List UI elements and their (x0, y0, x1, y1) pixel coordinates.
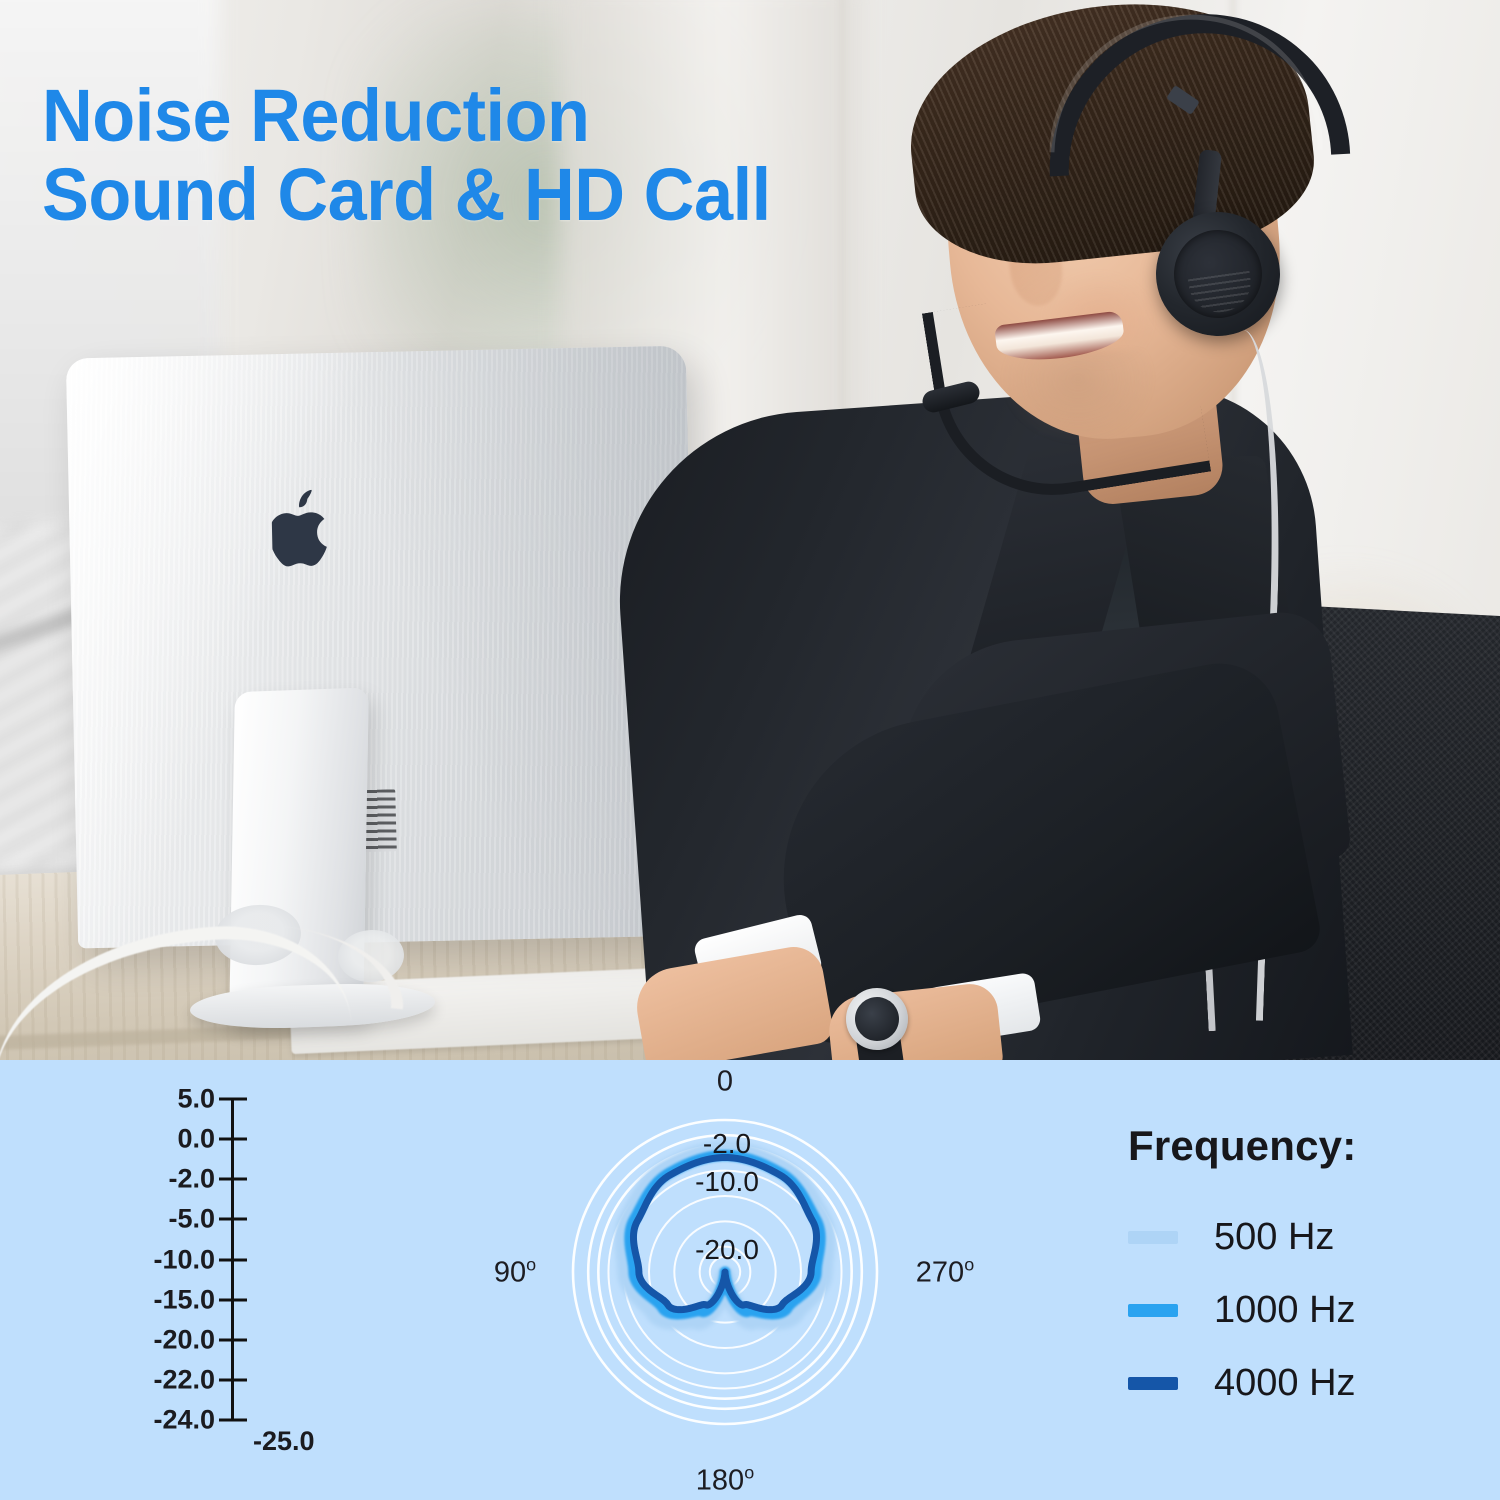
legend-color-swatch (1128, 1377, 1178, 1390)
legend-item[interactable]: 1000 Hz (1128, 1289, 1458, 1332)
polar-ring-label: -20.0 (695, 1234, 759, 1266)
db-scale-label: -2.0 (168, 1164, 215, 1195)
imac-highlight (66, 346, 698, 949)
db-scale-label: -22.0 (153, 1364, 215, 1395)
db-axis-tick (219, 1098, 247, 1101)
legend-rows: 500 Hz1000 Hz4000 Hz (1128, 1216, 1458, 1405)
apple-logo-icon (271, 489, 335, 568)
db-scale-min-label: -25.0 (253, 1426, 315, 1457)
legend-item-label: 4000 Hz (1214, 1362, 1356, 1405)
spec-chart-panel: 5.00.0-2.0-5.0-10.0-15.0-20.0-22.0-24.0 … (0, 1060, 1500, 1500)
polar-angle-label-0: 0 (717, 1066, 733, 1099)
db-axis-tick (219, 1138, 247, 1141)
polar-angle-label-270: 270o (916, 1255, 974, 1290)
db-axis-tick (219, 1419, 247, 1422)
db-scale-label: -5.0 (168, 1204, 215, 1235)
db-scale-label: -15.0 (153, 1284, 215, 1315)
db-axis-tick (219, 1378, 247, 1381)
legend-item-label: 500 Hz (1214, 1216, 1334, 1259)
product-infographic: Noise Reduction Sound Card & HD Call 5.0… (0, 0, 1500, 1500)
db-axis-tick (219, 1338, 247, 1341)
legend-item[interactable]: 4000 Hz (1128, 1362, 1458, 1405)
db-axis-tick (219, 1258, 247, 1261)
legend-color-swatch (1128, 1231, 1178, 1244)
db-scale-label: 0.0 (177, 1124, 215, 1155)
db-scale-labels: 5.00.0-2.0-5.0-10.0-15.0-20.0-22.0-24.0 (0, 1060, 215, 1500)
degree-symbol: o (744, 1463, 754, 1483)
imac-monitor-back (66, 346, 698, 949)
legend-color-swatch (1128, 1304, 1178, 1317)
degree-symbol: o (526, 1255, 536, 1275)
polar-angle-label-90: 90o (494, 1255, 536, 1290)
polar-angle-label-180: 180o (696, 1463, 754, 1498)
db-axis-tick (219, 1178, 247, 1181)
frequency-legend: Frequency: 500 Hz1000 Hz4000 Hz (1128, 1122, 1458, 1435)
person-with-headset (760, 0, 1500, 1060)
page-title: Noise Reduction Sound Card & HD Call (42, 76, 771, 234)
db-axis-tick (219, 1218, 247, 1221)
legend-title: Frequency: (1128, 1122, 1458, 1170)
polar-ring-label: -10.0 (695, 1166, 759, 1198)
db-scale-label: 5.0 (177, 1084, 215, 1115)
db-scale-label: -20.0 (153, 1324, 215, 1355)
polar-ring-label: -2.0 (703, 1128, 751, 1160)
legend-item-label: 1000 Hz (1214, 1289, 1356, 1332)
hero-photo: Noise Reduction Sound Card & HD Call (0, 0, 1500, 1060)
db-scale-label: -10.0 (153, 1244, 215, 1275)
polar-pattern-chart: -2.0-10.0-20.0 090o270o180o (475, 1060, 995, 1500)
db-scale: 5.00.0-2.0-5.0-10.0-15.0-20.0-22.0-24.0 … (0, 1060, 400, 1500)
headline-line-2: Sound Card & HD Call (42, 155, 771, 234)
degree-symbol: o (964, 1255, 974, 1275)
headline-line-1: Noise Reduction (42, 74, 590, 157)
db-scale-label: -24.0 (153, 1405, 215, 1436)
legend-item[interactable]: 500 Hz (1128, 1216, 1458, 1259)
db-axis-tick (219, 1298, 247, 1301)
